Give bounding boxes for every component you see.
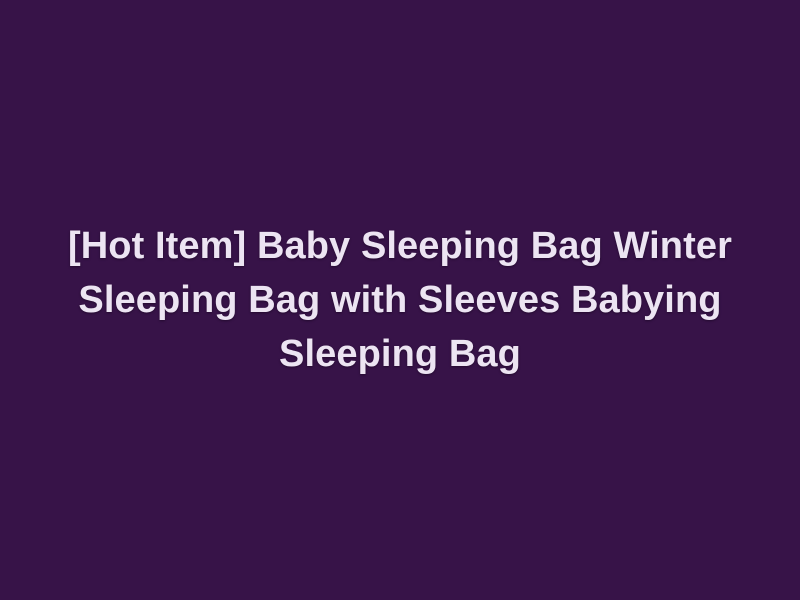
page-title: [Hot Item] Baby Sleeping Bag Winter Slee… (60, 219, 740, 381)
product-title-card: [Hot Item] Baby Sleeping Bag Winter Slee… (0, 0, 800, 600)
title-block: [Hot Item] Baby Sleeping Bag Winter Slee… (50, 219, 750, 381)
